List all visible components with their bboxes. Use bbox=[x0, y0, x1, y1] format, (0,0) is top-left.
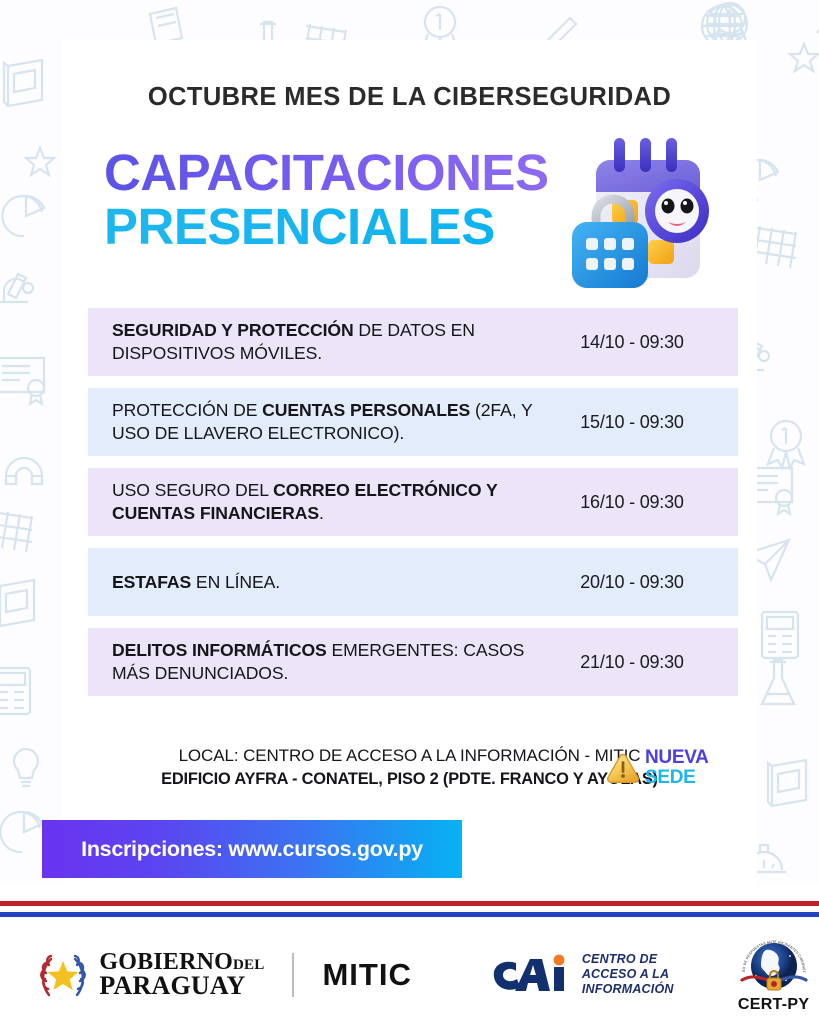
course-title-pre: USO SEGURO DEL bbox=[112, 480, 273, 500]
poster-root: OCTUBRE MES DE LA CIBERSEGURIDAD CAPACIT… bbox=[0, 0, 819, 1024]
new-venue-line1: NUEVA bbox=[645, 748, 709, 767]
flag-stripe-red bbox=[0, 901, 819, 906]
course-title-bold: CUENTAS PERSONALES bbox=[262, 400, 470, 420]
course-date: 15/10 - 09:30 bbox=[548, 412, 716, 433]
course-title: SEGURIDAD Y PROTECCIÓN DE DATOS EN DISPO… bbox=[112, 319, 548, 364]
course-title-rest: EN LÍNEA. bbox=[191, 572, 280, 592]
course-title-bold: ESTAFAS bbox=[112, 572, 191, 592]
new-venue-badge: NUEVA SEDE bbox=[606, 748, 709, 787]
course-row[interactable]: ESTAFAS EN LÍNEA. 20/10 - 09:30 bbox=[88, 548, 738, 616]
cert-py-seal-icon: CENTRO DE RESPUESTAS ANTE INCIDENTES CIB… bbox=[736, 936, 812, 998]
logo-gobierno-paraguay: GOBIERNODEL PARAGUAY MITIC bbox=[37, 949, 411, 1001]
new-venue-line2: SEDE bbox=[645, 768, 709, 787]
course-title-bold: SEGURIDAD Y PROTECCIÓN bbox=[112, 320, 354, 340]
gobierno-wordmark: GOBIERNODEL PARAGUAY bbox=[99, 951, 264, 998]
page-title: CAPACITACIONES PRESENCIALES bbox=[104, 148, 574, 252]
course-title: USO SEGURO DEL CORREO ELECTRÓNICO Y CUEN… bbox=[112, 479, 548, 524]
calendar-lock-illustration bbox=[556, 132, 738, 307]
course-date: 16/10 - 09:30 bbox=[548, 492, 716, 513]
cai-monogram-icon bbox=[490, 953, 574, 997]
course-list: SEGURIDAD Y PROTECCIÓN DE DATOS EN DISPO… bbox=[88, 308, 738, 708]
flag-stripe-blue bbox=[0, 912, 819, 917]
course-title-rest: . bbox=[319, 503, 324, 523]
course-date: 20/10 - 09:30 bbox=[548, 572, 716, 593]
cai-wordmark: CENTRO DE ACCESO A LA INFORMACIÓN bbox=[582, 952, 674, 998]
course-title-bold: DELITOS INFORMÁTICOS bbox=[112, 640, 327, 660]
course-title: DELITOS INFORMÁTICOS EMERGENTES: CASOS M… bbox=[112, 639, 548, 684]
page-title-line2: PRESENCIALES bbox=[104, 202, 574, 252]
gov-line2: PARAGUAY bbox=[99, 974, 264, 998]
course-row[interactable]: SEGURIDAD Y PROTECCIÓN DE DATOS EN DISPO… bbox=[88, 308, 738, 376]
logo-cert-py: CENTRO DE RESPUESTAS ANTE INCIDENTES CIB… bbox=[736, 936, 812, 1014]
warning-triangle-icon bbox=[606, 752, 640, 784]
course-row[interactable]: PROTECCIÓN DE CUENTAS PERSONALES (2FA, Y… bbox=[88, 388, 738, 456]
page-title-line1: CAPACITACIONES bbox=[104, 148, 574, 198]
registration-banner[interactable]: Inscripciones: www.cursos.gov.py bbox=[42, 820, 462, 878]
wreath-star-icon bbox=[37, 949, 89, 1001]
course-title: PROTECCIÓN DE CUENTAS PERSONALES (2FA, Y… bbox=[112, 399, 548, 444]
cai-line-2: ACCESO A LA bbox=[582, 967, 674, 982]
course-date: 14/10 - 09:30 bbox=[548, 332, 716, 353]
cai-line-3: INFORMACIÓN bbox=[582, 982, 674, 997]
page-kicker: OCTUBRE MES DE LA CIBERSEGURIDAD bbox=[0, 83, 819, 112]
course-title: ESTAFAS EN LÍNEA. bbox=[112, 571, 548, 594]
mitic-wordmark: MITIC bbox=[322, 957, 411, 993]
new-venue-text: NUEVA SEDE bbox=[645, 748, 709, 787]
cert-py-label: CERT-PY bbox=[738, 996, 809, 1014]
course-row[interactable]: USO SEGURO DEL CORREO ELECTRÓNICO Y CUEN… bbox=[88, 468, 738, 536]
footer-logos: GOBIERNODEL PARAGUAY MITIC CENTRO DE bbox=[0, 925, 819, 1024]
course-date: 21/10 - 09:30 bbox=[548, 652, 716, 673]
logo-divider bbox=[292, 953, 294, 997]
registration-url-text: Inscripciones: www.cursos.gov.py bbox=[81, 837, 423, 862]
logo-cai: CENTRO DE ACCESO A LA INFORMACIÓN bbox=[490, 952, 674, 998]
course-row[interactable]: DELITOS INFORMÁTICOS EMERGENTES: CASOS M… bbox=[88, 628, 738, 696]
cai-line-1: CENTRO DE bbox=[582, 952, 674, 967]
course-title-pre: PROTECCIÓN DE bbox=[112, 400, 262, 420]
